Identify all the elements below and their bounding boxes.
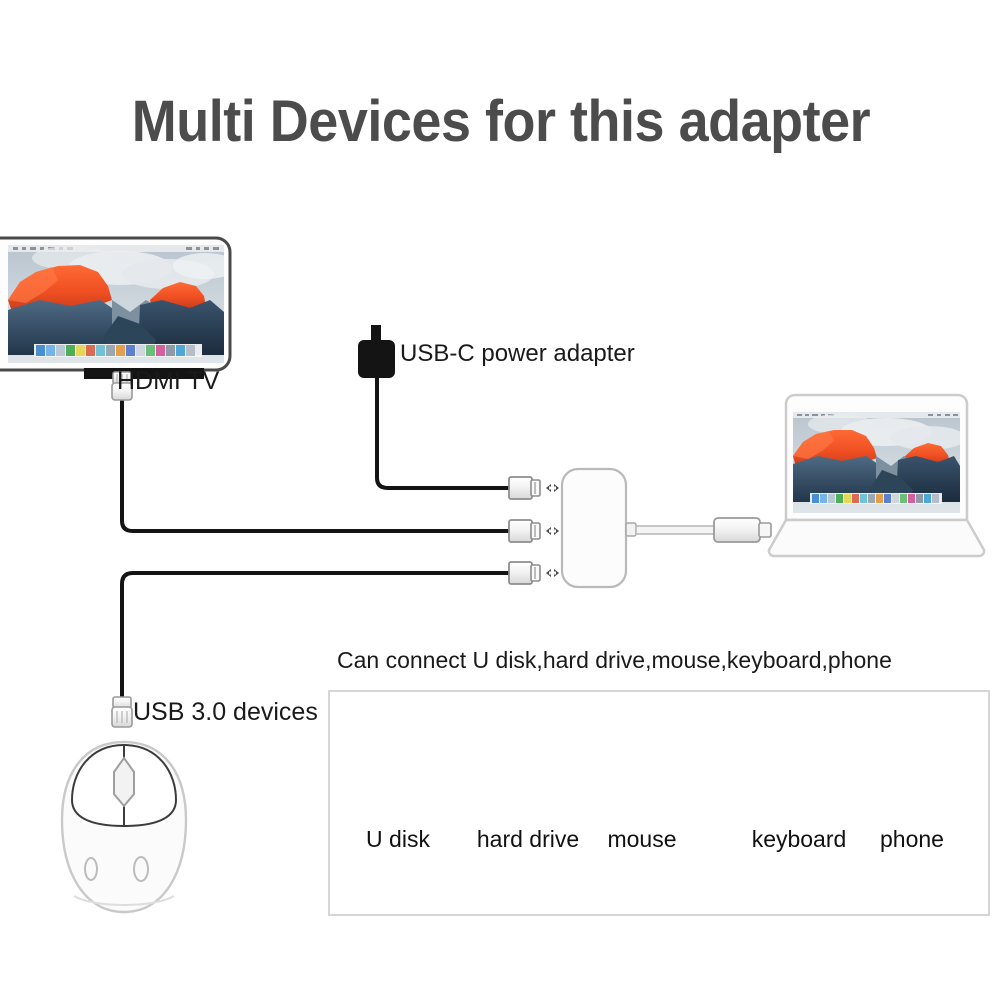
hdmi-tv-display	[0, 238, 237, 379]
device-label-mouse: mouse	[597, 826, 687, 853]
supported-devices-box	[328, 690, 990, 916]
diagram-canvas: Multi Devices for this adapter	[0, 0, 1002, 1002]
device-label-hard-drive: hard drive	[466, 826, 590, 853]
usb3-plug-connector	[112, 697, 132, 727]
label-hdmi-tv: HDMI TV	[117, 367, 219, 396]
hub-port-3	[509, 562, 559, 584]
label-usb3-devices: USB 3.0 devices	[133, 698, 318, 727]
label-usb-c-power-adapter: USB-C power adapter	[400, 340, 635, 368]
device-label-u-disk: U disk	[358, 826, 438, 853]
device-label-keyboard: keyboard	[737, 826, 861, 853]
cable-power-adapter	[377, 378, 512, 488]
usb-c-power-adapter-icon	[358, 325, 395, 378]
computer-mouse-illustration	[62, 742, 186, 912]
cable-usb3	[122, 573, 512, 700]
usb-c-hub-body	[562, 469, 626, 587]
hub-port-2	[509, 520, 559, 542]
hub-port-1	[509, 477, 559, 499]
hub-port-connectors	[509, 477, 559, 584]
device-box-caption: Can connect U disk,hard drive,mouse,keyb…	[337, 647, 892, 674]
cable-hdmi	[122, 395, 512, 531]
laptop-device	[769, 395, 984, 556]
device-label-phone: phone	[871, 826, 953, 853]
usb-c-host-cable	[626, 518, 771, 542]
